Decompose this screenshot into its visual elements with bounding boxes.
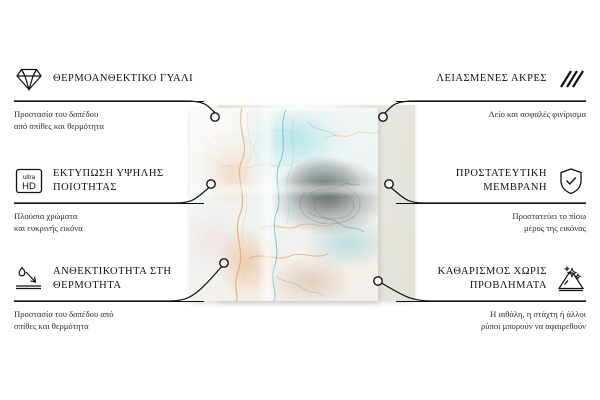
feature-heat-resistance: ΑΝΘΕΚΤΙΚΟΤΗΤΑ ΣΤΗ ΘΕΡΜΟΤΗΤΑ Προστασία το…	[14, 262, 204, 333]
feature-title: ΕΚΤΥΠΩΣΗ ΥΨΗΛΗΣ ΠΟΙΟΤΗΤΑΣ	[53, 167, 204, 195]
svg-text:ultra: ultra	[23, 174, 36, 181]
ink-vein-detail	[190, 108, 378, 301]
feature-divider	[396, 101, 586, 102]
feature-polished-edges: ΛΕΙΑΣΜΕΝΕΣ ΑΚΡΕΣ Λείο και ασφαλές φινίρι…	[396, 62, 586, 120]
feature-description: Προστατεύει το πίσωμέρος της εικόνας	[396, 210, 586, 235]
feature-divider	[14, 101, 204, 102]
feature-heat-resistant-glass: ΘΕΡΜΟΑΝΘΕΚΤΙΚΟ ΓΥΑΛΙ Προστασία του δαπέδ…	[14, 62, 204, 133]
feature-divider	[14, 203, 204, 204]
feature-description: Προστασία του δαπέδου απόσπίθες και θερμ…	[14, 308, 204, 333]
diagonal-lines-icon	[556, 64, 586, 94]
diamond-icon	[14, 64, 44, 94]
panel-top-highlight	[220, 102, 380, 112]
product-front-glass-panel	[190, 108, 378, 301]
shield-check-icon	[556, 166, 586, 196]
feature-description: Πλούσια χρώματακαι ευκρινής εικόνα	[14, 210, 204, 235]
feature-divider	[14, 301, 204, 302]
flame-deflect-icon	[14, 264, 44, 294]
feature-title: ΠΡΟΣΤΑΤΕΥΤΙΚΗ ΜΕΜΒΡΑΝΗ	[396, 167, 547, 195]
feature-header: ΚΑΘΑΡΙΣΜΟΣ ΧΩΡΙΣ ΠΡΟΒΛΗΜΑΤΑ	[396, 262, 586, 296]
feature-description: Λείο και ασφαλές φινίρισμα	[396, 108, 586, 120]
feature-title: ΛΕΙΑΣΜΕΝΕΣ ΑΚΡΕΣ	[436, 72, 547, 86]
product-image	[180, 105, 420, 305]
feature-title: ΑΝΘΕΚΤΙΚΟΤΗΤΑ ΣΤΗ ΘΕΡΜΟΤΗΤΑ	[53, 265, 204, 293]
feature-easy-cleaning: ΚΑΘΑΡΙΣΜΟΣ ΧΩΡΙΣ ΠΡΟΒΛΗΜΑΤΑ Η αιθάλη, η …	[396, 262, 586, 333]
feature-title: ΚΑΘΑΡΙΣΜΟΣ ΧΩΡΙΣ ΠΡΟΒΛΗΜΑΤΑ	[396, 265, 547, 293]
feature-header: ΑΝΘΕΚΤΙΚΟΤΗΤΑ ΣΤΗ ΘΕΡΜΟΤΗΤΑ	[14, 262, 204, 296]
ultra-hd-icon: ultra HD	[14, 166, 44, 196]
feature-title: ΘΕΡΜΟΑΝΘΕΚΤΙΚΟ ΓΥΑΛΙ	[53, 72, 193, 86]
feature-header: ΘΕΡΜΟΑΝΘΕΚΤΙΚΟ ΓΥΑΛΙ	[14, 62, 204, 96]
feature-divider	[396, 203, 586, 204]
feature-divider	[396, 301, 586, 302]
sparkle-wipe-icon	[556, 264, 586, 294]
feature-protective-film: ΠΡΟΣΤΑΤΕΥΤΙΚΗ ΜΕΜΒΡΑΝΗ Προστατεύει το πί…	[396, 164, 586, 235]
feature-description: Η αιθάλη, η στάχτη ή άλλοιρύποι μπορούν …	[396, 308, 586, 333]
feature-description: Προστασία του δαπέδουαπό σπίθες και θερμ…	[14, 108, 204, 133]
svg-text:HD: HD	[22, 181, 36, 192]
feature-header: ΠΡΟΣΤΑΤΕΥΤΙΚΗ ΜΕΜΒΡΑΝΗ	[396, 164, 586, 198]
feature-header: ΛΕΙΑΣΜΕΝΕΣ ΑΚΡΕΣ	[396, 62, 586, 96]
feature-high-quality-print: ultra HD ΕΚΤΥΠΩΣΗ ΥΨΗΛΗΣ ΠΟΙΟΤΗΤΑΣ Πλούσ…	[14, 164, 204, 235]
feature-header: ultra HD ΕΚΤΥΠΩΣΗ ΥΨΗΛΗΣ ΠΟΙΟΤΗΤΑΣ	[14, 164, 204, 198]
